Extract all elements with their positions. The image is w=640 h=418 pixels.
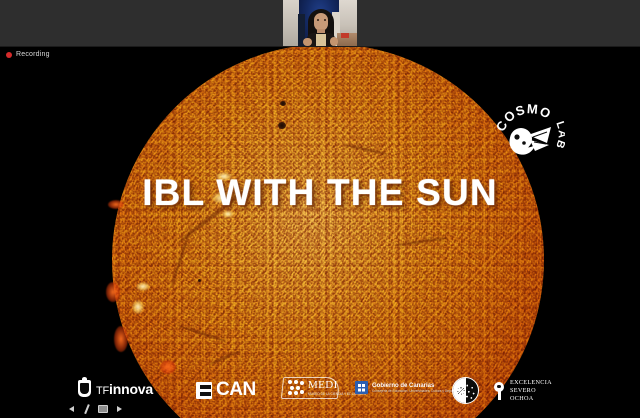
annotation-pen-button[interactable]	[82, 404, 92, 414]
meeting-topbar	[0, 0, 640, 47]
recording-indicator: Recording	[6, 51, 50, 58]
cajacanarias-mark-icon	[196, 382, 212, 399]
screen-share-view: IBL WITH THE SUN COSMO LAB	[0, 0, 640, 418]
gobierno-canarias-icon	[355, 381, 368, 394]
arrow-right-icon	[117, 406, 122, 412]
pen-icon	[84, 404, 89, 414]
blank-screen-button[interactable]	[98, 404, 108, 414]
recording-dot-icon	[6, 52, 12, 58]
presentation-toolbar[interactable]	[66, 404, 124, 414]
screen-icon	[98, 405, 108, 413]
tenerife-crest-icon	[78, 380, 91, 397]
severo-ochoa-key-icon	[493, 382, 505, 400]
webcam-desk-object	[341, 33, 349, 38]
severo-ochoa-line3: OCHOA	[510, 395, 552, 403]
severo-ochoa-key-hole	[497, 385, 501, 389]
severo-ochoa-line2: SEVERO	[510, 387, 552, 395]
webcam-person-hand-left	[303, 38, 312, 46]
medi-dots-icon	[288, 380, 305, 396]
previous-slide-button[interactable]	[66, 404, 76, 414]
webcam-wall-left	[283, 0, 299, 46]
iac-seal-stars	[465, 383, 476, 400]
webcam-person-eye-left	[317, 19, 319, 21]
sponsor-iac-seal	[452, 377, 479, 404]
sponsor-severo-ochoa: EXCELENCIA SEVERO OCHOA	[493, 379, 552, 402]
cosmolab-logo: COSMO LAB	[495, 99, 565, 161]
severo-ochoa-line1: EXCELENCIA	[510, 379, 552, 387]
sun-disc	[112, 47, 544, 418]
iac-seal-star	[457, 387, 465, 395]
webcam-person-hand-right	[330, 37, 338, 46]
webcam-person-eye-right	[324, 19, 326, 21]
webcam-person-shirt-inner	[316, 34, 326, 46]
sun-prominence	[160, 360, 176, 374]
iac-seal-icon	[452, 377, 479, 404]
sponsor-gobierno-canarias: Gobierno de Canarias Consejeria de Educa…	[355, 381, 458, 394]
sun-prominence	[106, 282, 120, 302]
arrow-left-icon	[69, 406, 74, 412]
sponsor-tfinnova: TFinnova	[78, 380, 153, 397]
tfinnova-name: innova	[109, 381, 153, 397]
gobierno-canarias-subtitle: Consejeria de Educacion, Universidades, …	[372, 389, 458, 393]
tfinnova-wordmark: TFinnova	[96, 381, 153, 397]
svg-text:LAB: LAB	[553, 120, 565, 151]
cajacanarias-wordmark: CAN	[216, 379, 256, 401]
shared-slide-stage: IBL WITH THE SUN COSMO LAB	[0, 47, 640, 418]
sun-image	[112, 47, 544, 418]
tfinnova-prefix: TF	[96, 385, 109, 397]
sponsor-cajacanarias: CAN	[196, 379, 256, 401]
webcam-participant-tile[interactable]	[283, 0, 357, 46]
sun-prominence	[114, 326, 128, 352]
slide-title: IBL WITH THE SUN	[0, 172, 640, 214]
next-slide-button[interactable]	[114, 404, 124, 414]
recording-label: Recording	[16, 51, 50, 58]
